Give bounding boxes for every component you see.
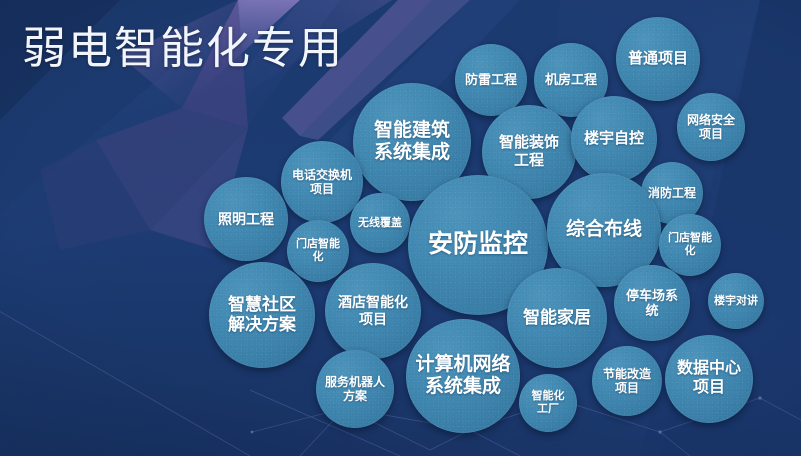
bubble[interactable]: 楼宇对讲 xyxy=(708,273,764,329)
bubble-label: 智能装饰工程 xyxy=(493,134,565,169)
bubble-label: 网络安全项目 xyxy=(681,113,741,141)
bubble-label: 防雷工程 xyxy=(459,72,523,87)
bubble-label: 酒店智能化项目 xyxy=(332,294,414,327)
bubble[interactable]: 服务机器人方案 xyxy=(316,350,394,428)
slide-canvas: 弱电智能化专用 智能建筑系统集成防雷工程机房工程普通项目网络安全项目智能装饰工程… xyxy=(0,0,801,456)
bubble[interactable]: 数据中心项目 xyxy=(665,335,753,423)
bubble-label: 无线覆盖 xyxy=(352,217,408,230)
bubble[interactable]: 智能家居 xyxy=(507,268,607,368)
bubble-label: 机房工程 xyxy=(539,72,603,87)
bubble-label: 电话交换机项目 xyxy=(286,168,358,196)
bubble[interactable]: 普通项目 xyxy=(616,17,700,101)
bubble-label: 智能家居 xyxy=(517,308,597,328)
bubble-label: 楼宇对讲 xyxy=(708,295,764,308)
bubble[interactable]: 照明工程 xyxy=(204,177,288,261)
bubble[interactable]: 酒店智能化项目 xyxy=(325,263,421,359)
bubble-label: 停车场系统 xyxy=(620,288,684,319)
bubble[interactable]: 门店智能化 xyxy=(287,220,349,282)
bubble-label: 门店智能化 xyxy=(662,232,718,258)
bubble[interactable]: 防雷工程 xyxy=(455,44,527,116)
bubble[interactable]: 计算机网络系统集成 xyxy=(406,319,520,433)
bubble-label: 普通项目 xyxy=(622,50,694,68)
bubble-label: 照明工程 xyxy=(212,211,280,228)
bubble-label: 综合布线 xyxy=(560,219,648,241)
page-title: 弱电智能化专用 xyxy=(22,26,344,72)
bubble[interactable]: 节能改造项目 xyxy=(592,346,662,416)
bubble-label: 楼宇自控 xyxy=(578,130,650,148)
bubble-label: 安防监控 xyxy=(422,230,534,260)
bubble[interactable]: 电话交换机项目 xyxy=(281,141,363,223)
bubble-label: 门店智能化 xyxy=(290,238,346,264)
bubble[interactable]: 停车场系统 xyxy=(614,265,690,341)
bubble-label: 服务机器人方案 xyxy=(319,375,391,403)
bubble-label: 智能化工厂 xyxy=(526,390,571,416)
bubble[interactable]: 楼宇自控 xyxy=(571,96,657,182)
bubble[interactable]: 无线覆盖 xyxy=(350,193,410,253)
bubble-label: 智慧社区解决方案 xyxy=(222,295,302,335)
bubble-label: 智能建筑系统集成 xyxy=(368,120,456,165)
bubble-label: 数据中心项目 xyxy=(671,360,747,398)
bubble-label: 消防工程 xyxy=(642,186,702,200)
bubble-label: 节能改造项目 xyxy=(597,367,657,395)
bubble[interactable]: 网络安全项目 xyxy=(677,93,745,161)
bubble-label: 计算机网络系统集成 xyxy=(409,354,516,399)
bubble[interactable]: 智慧社区解决方案 xyxy=(209,262,315,368)
bubble[interactable]: 智能化工厂 xyxy=(519,374,577,432)
bubble[interactable]: 门店智能化 xyxy=(659,214,721,276)
